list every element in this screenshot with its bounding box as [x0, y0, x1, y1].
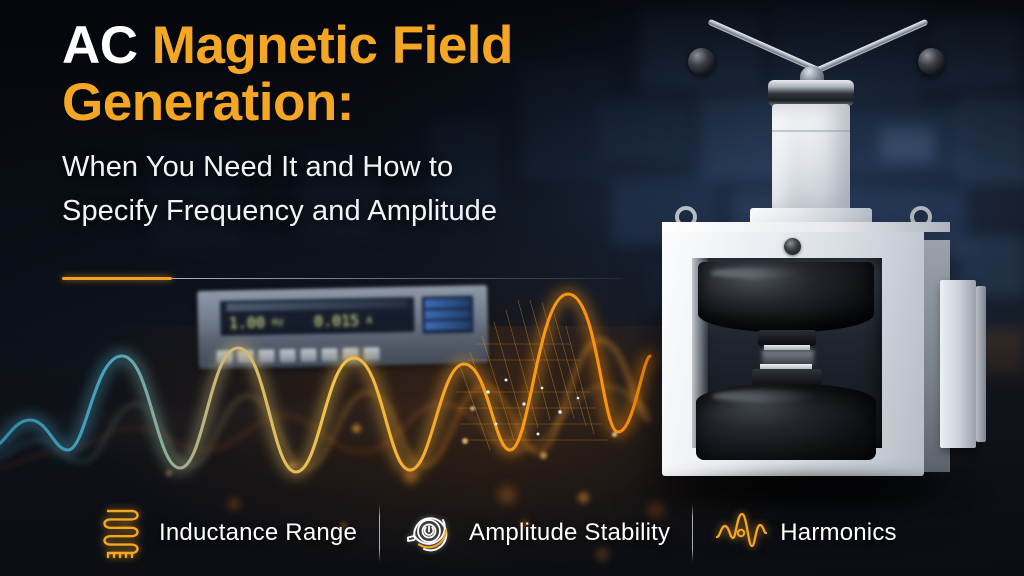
handle-rod-left — [707, 19, 821, 74]
handle-rod-right — [815, 19, 929, 74]
feature-badge-row: Inductance Range Am — [98, 500, 897, 566]
feature-badge-inductance-range[interactable]: Inductance Range — [98, 503, 357, 564]
title-prefix: AC — [62, 16, 138, 75]
feature-label-harmonics: Harmonics — [780, 519, 897, 547]
white-cylinder-body — [772, 104, 850, 214]
side-mount-plate — [940, 280, 976, 448]
handle-knob-right — [918, 48, 945, 75]
subtitle-line-2: Specify Frequency and Amplitude — [62, 195, 497, 227]
housing-screw — [784, 238, 801, 255]
feature-badge-harmonics[interactable]: Harmonics — [715, 509, 897, 558]
title-divider-accent — [62, 277, 172, 280]
banner-stage: 1.00 Hz 0.015 A — [0, 0, 1024, 576]
electromagnet-unit — [640, 18, 1000, 524]
feature-label-inductance-range: Inductance Range — [159, 519, 357, 547]
feature-badge-amplitude-stability[interactable]: Amplitude Stability — [402, 506, 670, 561]
upper-pole-highlight — [710, 268, 800, 278]
side-mount-plate-edge — [976, 286, 986, 442]
cylinder-seam — [772, 130, 850, 132]
title-accent-1: Magnetic Field — [152, 16, 513, 75]
title-divider — [62, 277, 622, 281]
lower-pole-highlight — [712, 390, 820, 402]
ac-waveform-graphic — [0, 300, 650, 520]
subtitle-line-1: When You Need It and How to — [62, 151, 453, 183]
title-accent-2: Generation: — [62, 73, 354, 132]
badge-divider-2 — [692, 504, 693, 562]
adjuster-collar — [768, 80, 854, 106]
housing-top-face — [662, 222, 950, 232]
title-divider-line — [172, 278, 622, 279]
upper-pole-tip — [758, 330, 816, 346]
handle-knob-left — [688, 48, 715, 75]
page-title: AC Magnetic Field Generation: — [62, 18, 672, 131]
waveform-icon — [715, 509, 767, 558]
gauge-dial-icon — [402, 506, 456, 561]
feature-label-amplitude-stability: Amplitude Stability — [469, 519, 670, 547]
coil-icon — [98, 503, 146, 564]
headline-block: AC Magnetic Field Generation: When You N… — [62, 18, 672, 234]
subtitle: When You Need It and How to Specify Freq… — [62, 145, 672, 233]
badge-divider-1 — [379, 504, 380, 562]
